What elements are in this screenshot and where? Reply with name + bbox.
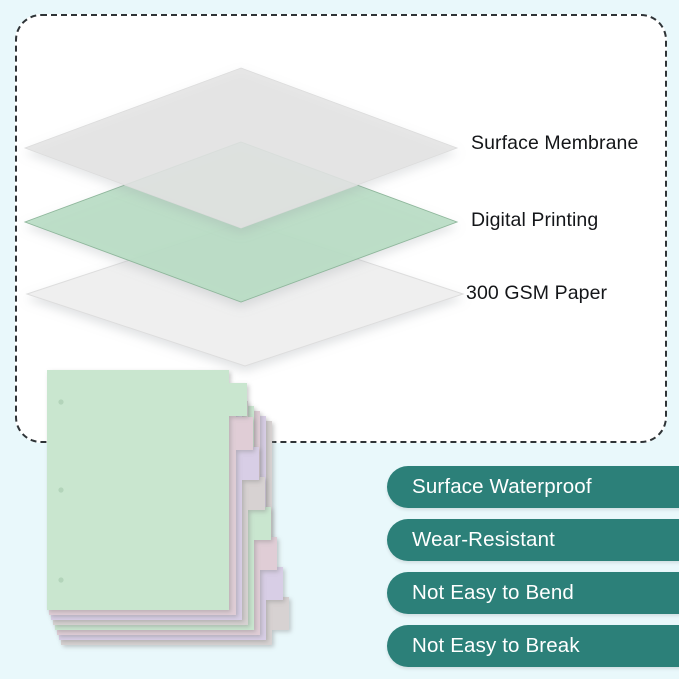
feature-pill-surface-waterproof[interactable]: Surface Waterproof xyxy=(387,466,679,508)
feature-pill-label: Wear-Resistant xyxy=(412,530,555,551)
feature-pill-list: Surface Waterproof Wear-Resistant Not Ea… xyxy=(387,466,679,678)
feature-pill-not-easy-to-bend[interactable]: Not Easy to Bend xyxy=(387,572,679,614)
feature-pill-label: Not Easy to Bend xyxy=(412,583,574,604)
index-divider-stack xyxy=(0,355,360,679)
layer-label-paper-300gsm: 300 GSM Paper xyxy=(466,284,607,304)
feature-pill-label: Not Easy to Break xyxy=(412,636,580,657)
divider-sheet-front xyxy=(47,370,247,610)
layer-label-digital-printing: Digital Printing xyxy=(471,211,598,231)
feature-pill-label: Surface Waterproof xyxy=(412,477,592,498)
feature-pill-wear-resistant[interactable]: Wear-Resistant xyxy=(387,519,679,561)
infographic-canvas: Surface Membrane Digital Printing 300 GS… xyxy=(0,0,679,679)
feature-pill-not-easy-to-break[interactable]: Not Easy to Break xyxy=(387,625,679,667)
layer-label-surface-membrane: Surface Membrane xyxy=(471,134,638,154)
